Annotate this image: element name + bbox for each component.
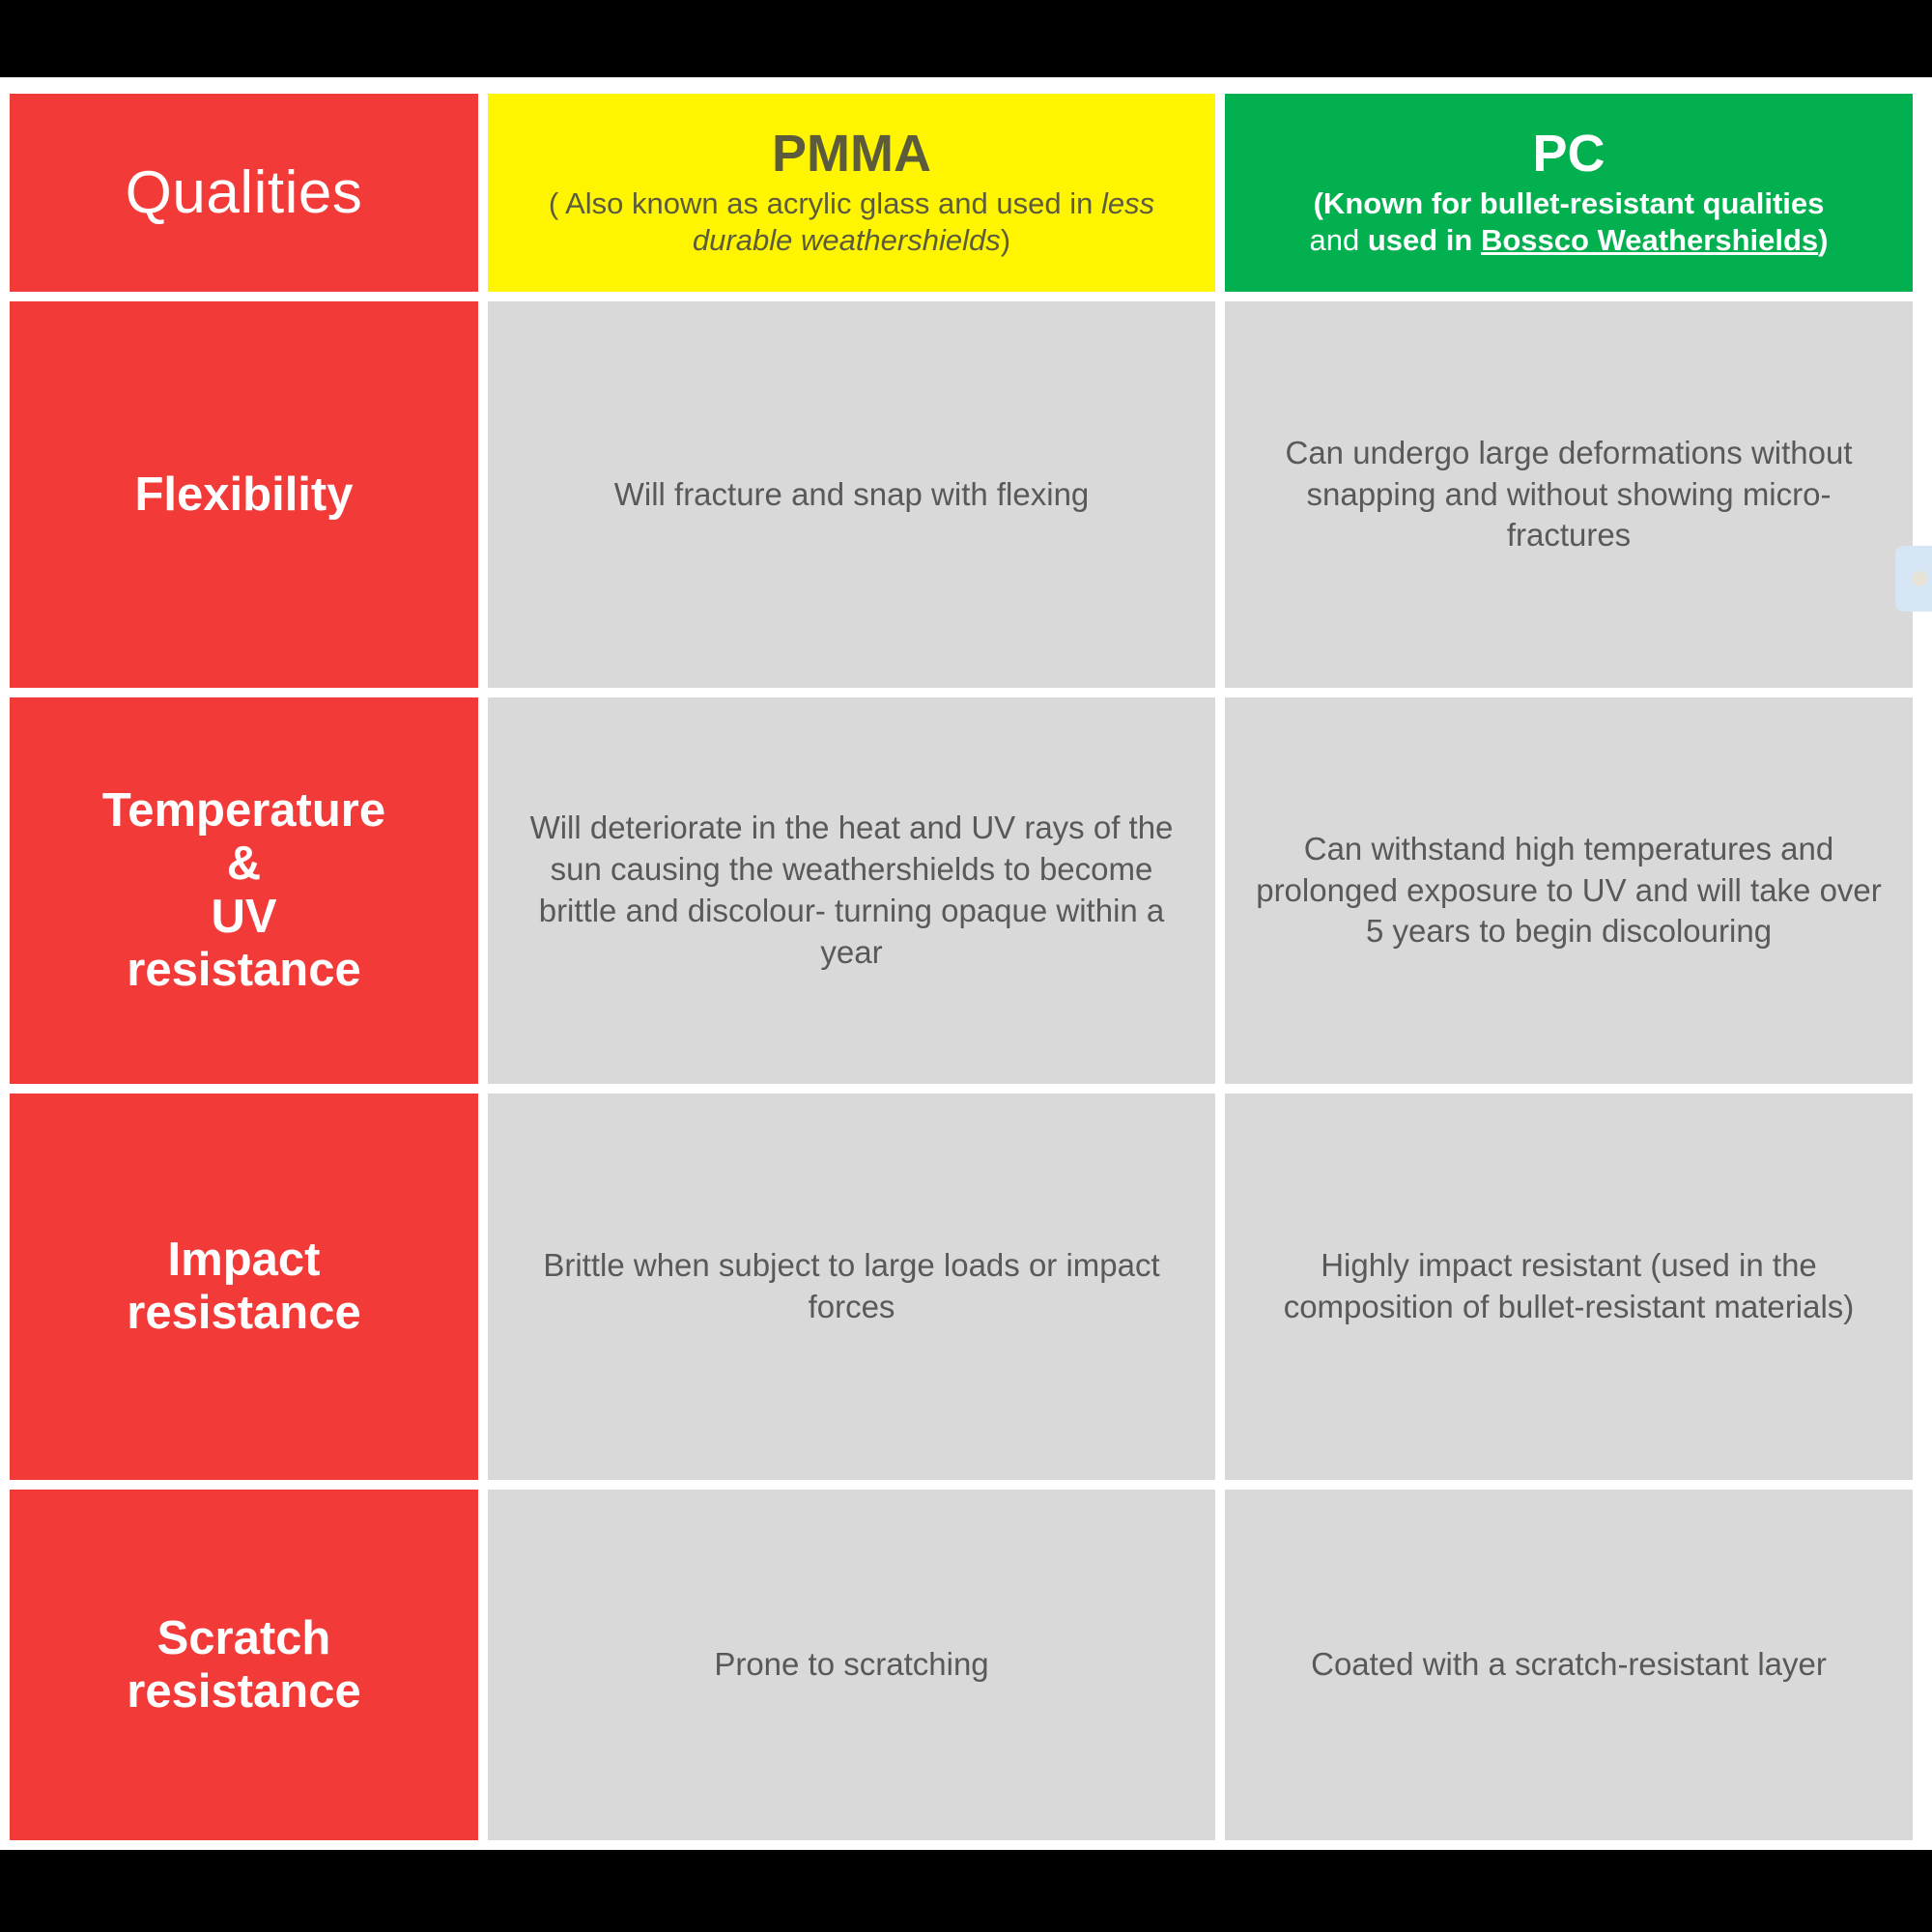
page-title: Qualities — [126, 161, 363, 224]
circle-icon — [1912, 571, 1927, 586]
pc-subtitle-line2: and used in Bossco Weathershields) — [1310, 222, 1829, 259]
table-row: Temperature&UVresistance Will deteriorat… — [10, 697, 1913, 1084]
pc-subtitle-plain: and — [1310, 223, 1368, 257]
cell-text: Prone to scratching — [687, 1644, 1015, 1686]
row-label-cell-flexibility: Flexibility — [10, 301, 478, 688]
table-row: Flexibility Will fracture and snap with … — [10, 301, 1913, 688]
row-label: Impactresistance — [119, 1234, 368, 1340]
cell-pmma-impact: Brittle when subject to large loads or i… — [488, 1094, 1215, 1480]
cell-text: Will deteriorate in the heat and UV rays… — [488, 808, 1215, 974]
pc-title: PC — [1532, 127, 1605, 182]
cell-pc-scratch: Coated with a scratch-resistant layer — [1225, 1490, 1913, 1840]
cell-text: Highly impact resistant (used in the com… — [1225, 1245, 1913, 1328]
cell-pc-impact: Highly impact resistant (used in the com… — [1225, 1094, 1913, 1480]
cell-text: Will fracture and snap with flexing — [587, 474, 1117, 516]
cell-text: Can undergo large deformations without s… — [1225, 433, 1913, 557]
header-cell-pmma: PMMA ( Also known as acrylic glass and u… — [488, 94, 1215, 292]
cell-pc-flexibility: Can undergo large deformations without s… — [1225, 301, 1913, 688]
letterbox-bar-bottom — [0, 1850, 1932, 1932]
cell-text: Coated with a scratch-resistant layer — [1284, 1644, 1854, 1686]
cell-pc-temperature-uv: Can withstand high temperatures and prol… — [1225, 697, 1913, 1084]
cell-pmma-flexibility: Will fracture and snap with flexing — [488, 301, 1215, 688]
slide-page: Qualities PMMA ( Also known as acrylic g… — [0, 77, 1932, 1850]
pc-subtitle: (Known for bullet-resistant qualities an… — [1310, 185, 1829, 259]
table-row: Scratchresistance Prone to scratching Co… — [10, 1490, 1913, 1840]
header-cell-pc: PC (Known for bullet-resistant qualities… — [1225, 94, 1913, 292]
row-label-cell-scratch: Scratchresistance — [10, 1490, 478, 1840]
bossco-weathershields-link[interactable]: Bossco Weathershields — [1481, 223, 1818, 257]
row-label-cell-impact: Impactresistance — [10, 1094, 478, 1480]
cell-text: Brittle when subject to large loads or i… — [488, 1245, 1215, 1328]
cell-pmma-scratch: Prone to scratching — [488, 1490, 1215, 1840]
row-label-cell-temperature-uv: Temperature&UVresistance — [10, 697, 478, 1084]
pmma-subtitle-suffix: ) — [1001, 223, 1010, 257]
pc-subtitle-bold: used in — [1368, 223, 1481, 257]
row-label: Scratchresistance — [119, 1612, 368, 1719]
pmma-subtitle-prefix: ( Also known as acrylic glass and used i… — [549, 186, 1101, 220]
cell-text: Can withstand high temperatures and prol… — [1225, 829, 1913, 953]
table-header-row: Qualities PMMA ( Also known as acrylic g… — [10, 94, 1913, 292]
pmma-title: PMMA — [772, 127, 931, 182]
header-cell-qualities: Qualities — [10, 94, 478, 292]
side-panel-tab[interactable] — [1895, 546, 1932, 611]
comparison-table: Qualities PMMA ( Also known as acrylic g… — [10, 94, 1913, 1840]
pc-header-stack: PC (Known for bullet-resistant qualities… — [1225, 119, 1913, 266]
table-row: Impactresistance Brittle when subject to… — [10, 1094, 1913, 1480]
pmma-header-stack: PMMA ( Also known as acrylic glass and u… — [488, 119, 1215, 266]
pc-subtitle-line1: (Known for bullet-resistant qualities — [1310, 185, 1829, 222]
letterbox-bar-top — [0, 0, 1932, 77]
screenshot-canvas: Qualities PMMA ( Also known as acrylic g… — [0, 0, 1932, 1932]
pc-subtitle-suffix: ) — [1818, 223, 1828, 257]
row-label: Flexibility — [127, 469, 360, 522]
pmma-subtitle: ( Also known as acrylic glass and used i… — [501, 185, 1202, 259]
cell-pmma-temperature-uv: Will deteriorate in the heat and UV rays… — [488, 697, 1215, 1084]
row-label: Temperature&UVresistance — [95, 784, 393, 997]
